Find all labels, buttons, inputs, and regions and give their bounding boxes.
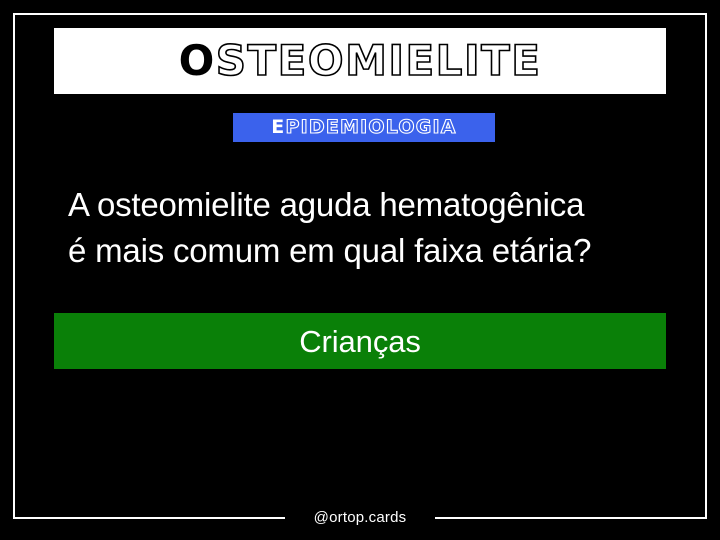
title-text: O STEOMIELITE <box>179 40 542 82</box>
frame-border-left <box>13 13 15 519</box>
title-banner: O STEOMIELITE <box>54 28 666 94</box>
question-line-1: A osteomielite aguda hematogênica <box>68 182 668 228</box>
frame-border-top <box>13 13 707 15</box>
subtitle-banner: E PIDEMIOLOGIA <box>233 113 495 142</box>
question-text: A osteomielite aguda hematogênica é mais… <box>68 182 668 274</box>
flashcard-root: O STEOMIELITE E PIDEMIOLOGIA A osteomiel… <box>0 0 720 540</box>
question-line-2: é mais comum em qual faixa etária? <box>68 228 668 274</box>
subtitle-lead-letter: E <box>271 118 285 137</box>
frame-border-right <box>705 13 707 519</box>
title-rest-text: STEOMIELITE <box>216 40 542 82</box>
title-lead-letter: O <box>179 40 216 82</box>
footer-handle: @ortop.cards <box>0 508 720 528</box>
answer-text: Crianças <box>299 326 421 357</box>
subtitle-rest-text: PIDEMIOLOGIA <box>285 118 456 137</box>
subtitle-text: E PIDEMIOLOGIA <box>271 118 456 137</box>
answer-bar: Crianças <box>54 313 666 369</box>
